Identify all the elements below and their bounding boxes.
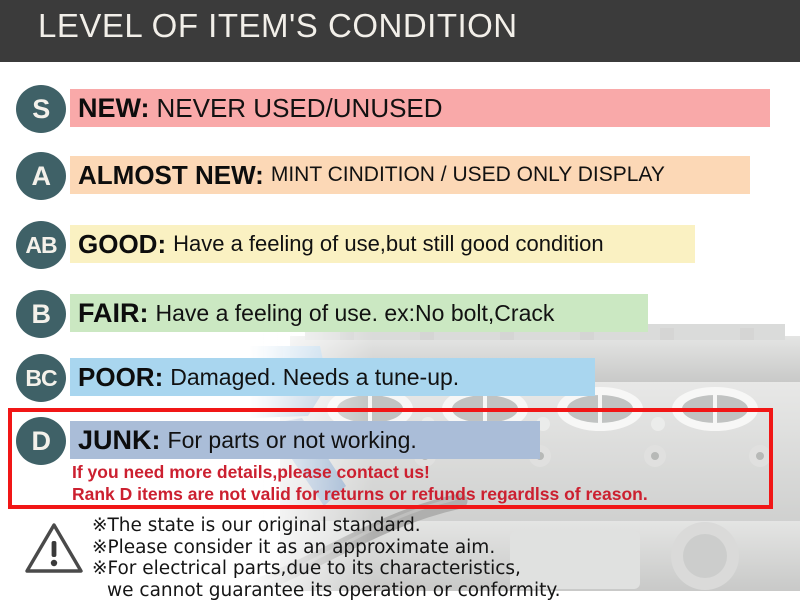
grade-description-ab: Have a feeling of use,but still good con… — [166, 231, 604, 257]
grade-bar-a: ALMOST NEW: MINT CINDITION / USED ONLY D… — [70, 156, 750, 194]
grade-badge-s: S — [16, 85, 66, 133]
warning-contact-text: If you need more details,please contact … — [72, 462, 430, 483]
grade-badge-bc: BC — [16, 354, 66, 402]
grade-label-s: NEW: — [72, 93, 150, 124]
grade-bar-b: FAIR: Have a feeling of use. ex:No bolt,… — [70, 294, 648, 332]
grade-badge-a: A — [16, 152, 66, 200]
grade-label-b: FAIR: — [72, 298, 149, 329]
grade-badge-ab: AB — [16, 221, 66, 269]
grade-description-s: NEVER USED/UNUSED — [150, 93, 443, 124]
grade-description-a: MINT CINDITION / USED ONLY DISPLAY — [264, 163, 665, 187]
grade-description-b: Have a feeling of use. ex:No bolt,Crack — [149, 300, 555, 327]
grade-bar-d: JUNK: For parts or not working. — [70, 421, 540, 459]
grade-bar-bc: POOR: Damaged. Needs a tune-up. — [70, 358, 595, 396]
grade-badge-b: B — [16, 290, 66, 338]
grade-description-d: For parts or not working. — [161, 427, 417, 454]
grade-bar-s: NEW: NEVER USED/UNUSED — [70, 89, 770, 127]
warning-triangle-icon — [24, 521, 84, 575]
footer-note-1: ※The state is our original standard. — [92, 515, 652, 537]
grade-bar-ab: GOOD: Have a feeling of use,but still go… — [70, 225, 695, 263]
grade-badge-d: D — [16, 417, 66, 465]
footer-note-4: we cannot guarantee its operation or con… — [92, 580, 652, 600]
footer-note-3: ※For electrical parts,due to its charact… — [92, 558, 652, 580]
grade-label-d: JUNK: — [72, 425, 161, 456]
condition-chart-page: LEVEL OF ITEM'S CONDITION NEW: NEVER USE… — [0, 0, 800, 600]
footer-note-2: ※Please consider it as an approximate ai… — [92, 537, 652, 559]
page-title: LEVEL OF ITEM'S CONDITION — [38, 7, 518, 45]
warning-no-returns-text: Rank D items are not valid for returns o… — [72, 484, 648, 505]
grade-label-a: ALMOST NEW: — [72, 160, 264, 191]
grade-label-bc: POOR: — [72, 362, 163, 393]
grade-description-bc: Damaged. Needs a tune-up. — [163, 364, 459, 391]
footer-notes: ※The state is our original standard. ※Pl… — [92, 515, 652, 600]
header-bar: LEVEL OF ITEM'S CONDITION — [0, 0, 800, 62]
grade-label-ab: GOOD: — [72, 229, 166, 260]
